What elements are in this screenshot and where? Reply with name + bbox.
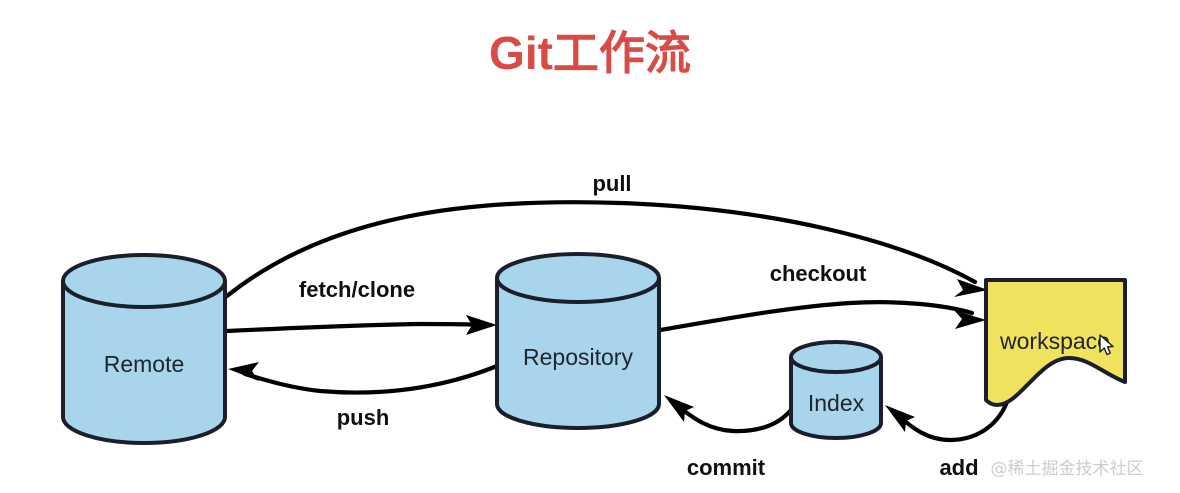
node-remote[interactable]: Remote bbox=[63, 255, 225, 443]
edge-push-path bbox=[245, 366, 497, 393]
edge-checkout-label: checkout bbox=[770, 261, 867, 286]
node-remote-label: Remote bbox=[104, 351, 185, 377]
page-title: Git工作流 bbox=[489, 27, 691, 79]
node-index-label: Index bbox=[808, 390, 865, 416]
edge-push-arrowhead bbox=[228, 362, 259, 381]
watermark: @稀土掘金技术社区 bbox=[991, 459, 1144, 479]
edge-add-label: add bbox=[939, 455, 978, 480]
edge-add-path bbox=[899, 402, 1007, 440]
edge-commit: commit bbox=[664, 395, 790, 480]
edge-commit-label: commit bbox=[687, 455, 766, 480]
git-workflow-diagram: Git工作流 pull fetch/clone checkout push bbox=[0, 0, 1180, 493]
edge-push: push bbox=[228, 362, 497, 430]
edge-checkout-path bbox=[660, 302, 972, 330]
edge-fetch-clone: fetch/clone bbox=[227, 277, 497, 335]
edge-checkout: checkout bbox=[660, 261, 986, 330]
node-repository-label: Repository bbox=[523, 344, 633, 370]
diagram-canvas: Git工作流 pull fetch/clone checkout push bbox=[0, 0, 1180, 493]
node-workspace-label: workspace bbox=[999, 328, 1110, 354]
edge-add: add bbox=[885, 402, 1007, 480]
edge-push-label: push bbox=[337, 405, 390, 430]
node-index[interactable]: Index bbox=[791, 342, 881, 438]
edge-fetch-clone-label: fetch/clone bbox=[299, 277, 415, 302]
edge-commit-path bbox=[678, 406, 790, 431]
edge-commit-arrowhead bbox=[664, 395, 694, 422]
edge-fetch-clone-path bbox=[227, 324, 483, 331]
edge-pull-label: pull bbox=[592, 171, 631, 196]
node-repository[interactable]: Repository bbox=[497, 254, 659, 428]
